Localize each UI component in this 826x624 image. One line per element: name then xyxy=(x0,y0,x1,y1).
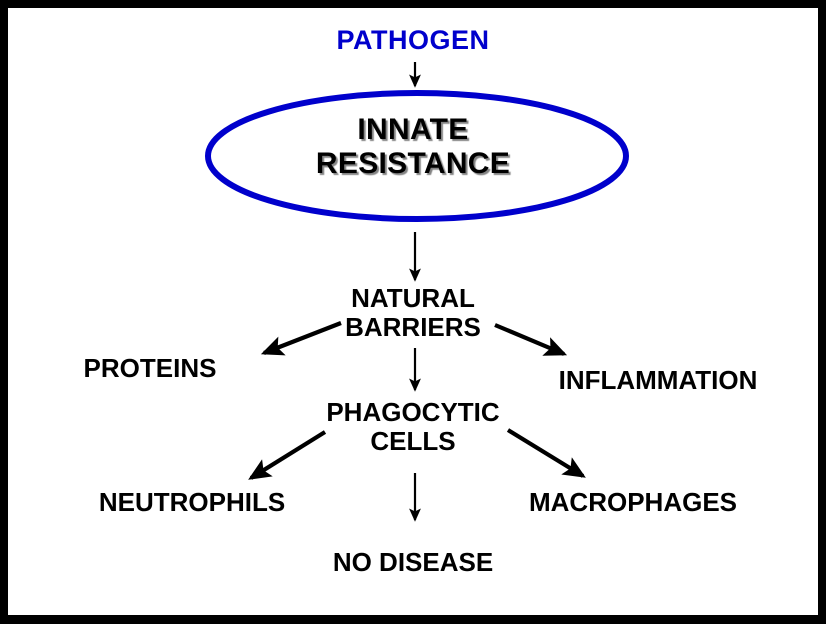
node-inflammation: INFLAMMATION xyxy=(508,366,808,395)
slide-frame: PATHOGEN INNATE RESISTANCE NATURAL BARRI… xyxy=(0,0,826,624)
node-innate-resistance-line-2: RESISTANCE xyxy=(8,147,818,181)
node-natural-barriers: NATURAL BARRIERS xyxy=(8,284,818,342)
node-phagocytic-cells-line-1: PHAGOCYTIC xyxy=(8,398,818,427)
node-natural-barriers-line-2: BARRIERS xyxy=(8,313,818,342)
node-macrophages: MACROPHAGES xyxy=(468,488,798,517)
node-proteins: PROTEINS xyxy=(30,354,270,383)
node-natural-barriers-line-1: NATURAL xyxy=(8,284,818,313)
diagram-canvas: PATHOGEN INNATE RESISTANCE NATURAL BARRI… xyxy=(8,8,818,615)
node-phagocytic-cells-line-2: CELLS xyxy=(8,427,818,456)
node-innate-resistance-line-1: INNATE xyxy=(8,113,818,147)
node-neutrophils: NEUTROPHILS xyxy=(8,488,376,517)
node-pathogen: PATHOGEN xyxy=(8,25,818,55)
node-innate-resistance: INNATE RESISTANCE xyxy=(8,113,818,180)
node-phagocytic-cells: PHAGOCYTIC CELLS xyxy=(8,398,818,456)
node-no-disease: NO DISEASE xyxy=(8,548,818,577)
